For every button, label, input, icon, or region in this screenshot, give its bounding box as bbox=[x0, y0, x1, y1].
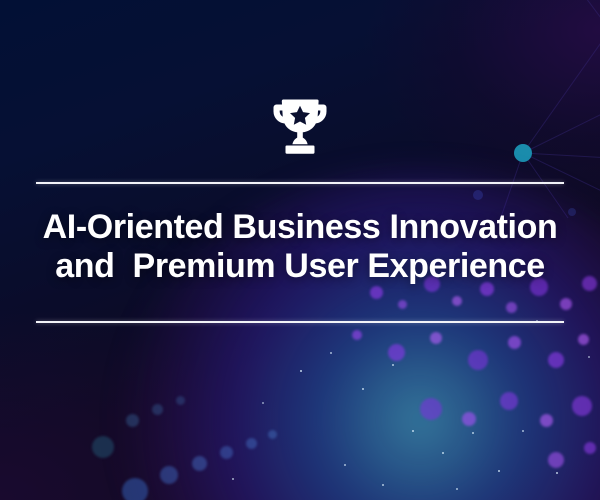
trophy-icon bbox=[271, 97, 329, 161]
page-title: AI-Oriented Business Innovation and Prem… bbox=[20, 208, 580, 286]
divider-top bbox=[36, 182, 564, 184]
divider-bottom bbox=[36, 321, 564, 323]
award-banner: AI-Oriented Business Innovation and Prem… bbox=[0, 0, 600, 500]
